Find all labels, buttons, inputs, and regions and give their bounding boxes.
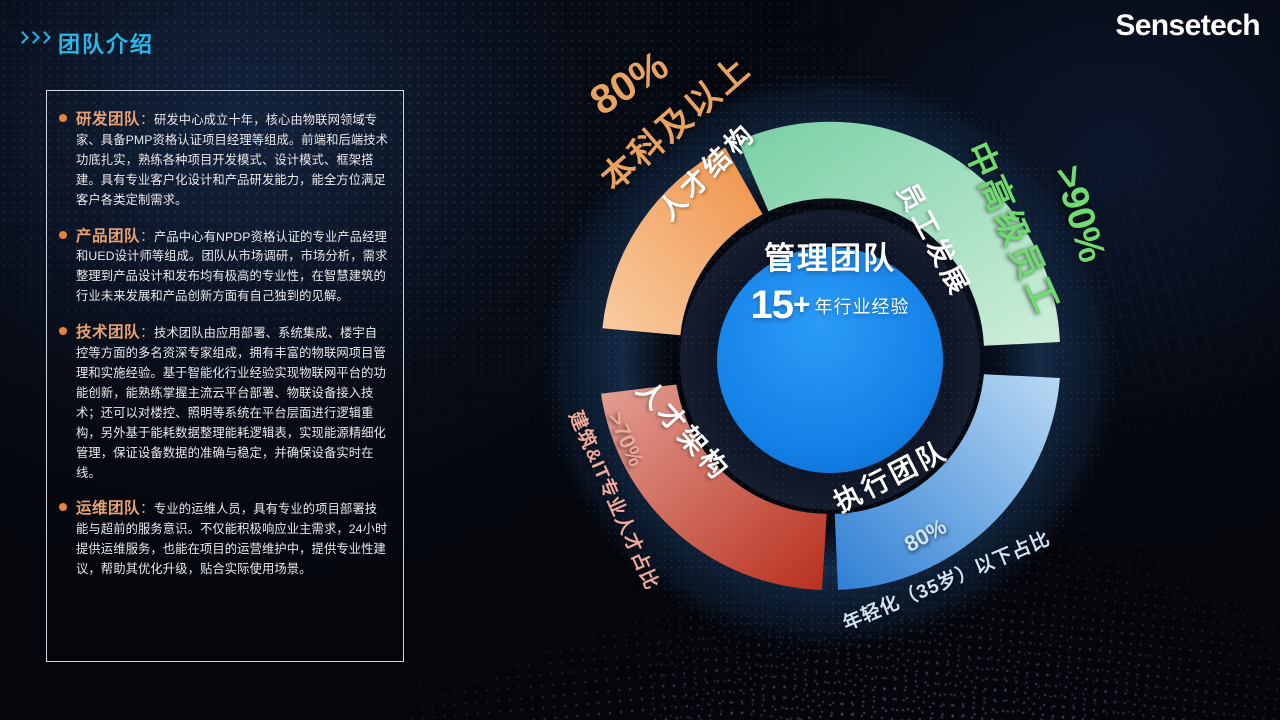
list-item: 技术团队：技术团队由应用部署、系统集成、楼宇自控等方面的多名资深专家组成，拥有丰… (59, 320, 389, 483)
list-item-heading: 研发团队 (76, 111, 140, 128)
donut-center-unit: 年行业经验 (815, 297, 910, 317)
bullet-icon (59, 231, 67, 239)
list-item-colon: ： (140, 500, 154, 516)
donut-center-subtitle: 15+年行业经验 (696, 283, 964, 328)
slide-header: 团队介绍 Sensetech (0, 0, 1280, 70)
list-item-heading: 运维团队 (76, 500, 140, 517)
list-item-heading: 技术团队 (76, 324, 140, 341)
list-item-heading: 产品团队 (76, 228, 140, 245)
list-item-colon: ： (140, 228, 154, 244)
bullet-icon (59, 503, 67, 511)
team-description-panel: 研发团队：研发中心成立十年，核心由物联网领域专家、具备PMP资格认证项目经理等组… (46, 90, 404, 662)
list-item-body: 技术团队由应用部署、系统集成、楼宇自控等方面的多名资深专家组成，拥有丰富的物联网… (76, 326, 386, 479)
list-item: 产品团队：产品中心有NPDP资格认证的专业产品经理和UED设计师等组成。团队从市… (59, 224, 389, 308)
page-title: 团队介绍 (58, 27, 154, 59)
list-item-colon: ： (140, 324, 154, 340)
brand-logo: Sensetech (1115, 9, 1260, 43)
donut-center-plus: + (793, 289, 811, 322)
donut-center-number: 15 (750, 283, 793, 327)
bullet-icon (59, 327, 67, 335)
list-item: 运维团队：专业的运维人员，具有专业的项目部署技能与超前的服务意识。不仅能积极响应… (59, 496, 389, 580)
list-item: 研发团队：研发中心成立十年，核心由物联网领域专家、具备PMP资格认证项目经理等组… (59, 107, 389, 211)
list-item-colon: ： (140, 111, 154, 127)
chevrons-right-icon (18, 30, 49, 45)
team-donut-chart: 人才结构 员工发展 执行团队 人才架构 80% 本科及以上 >90% 中高级员工… (530, 55, 1130, 665)
donut-center-disc[interactable] (717, 247, 943, 473)
bullet-icon (59, 114, 67, 122)
donut-center-title: 管理团队 (726, 233, 934, 278)
